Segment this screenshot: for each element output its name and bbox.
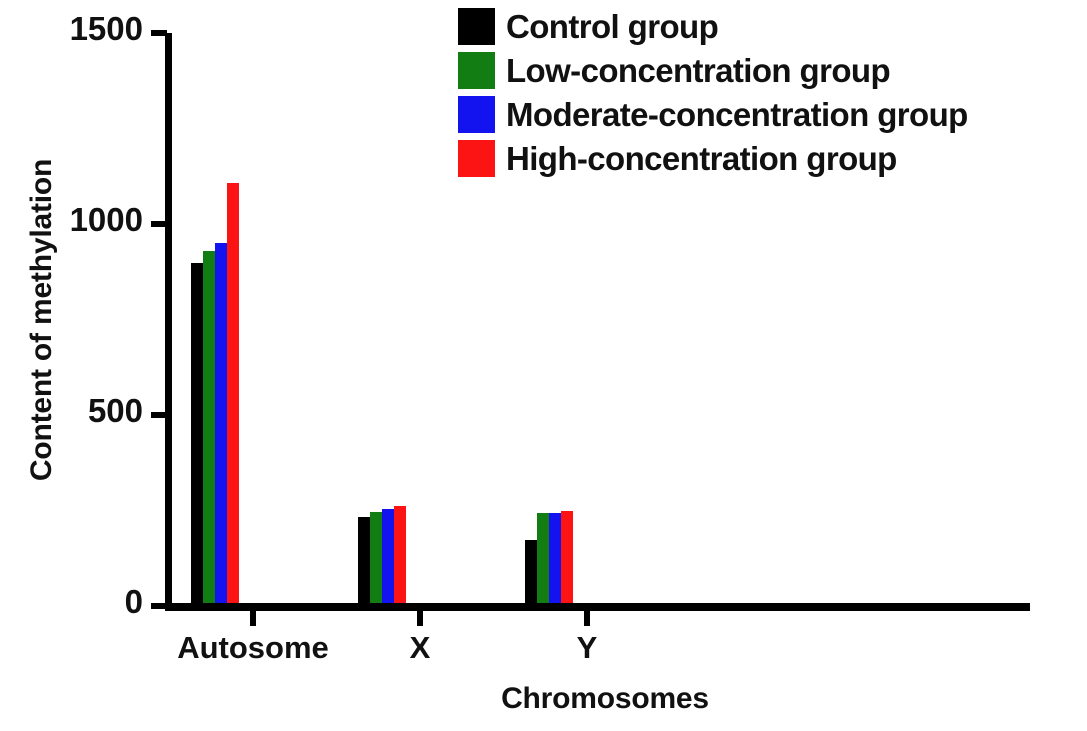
y-tick-1500: 1500	[151, 30, 167, 36]
bar-y-high-concentration-group	[561, 511, 573, 603]
y-tick-1000: 1000	[151, 221, 167, 227]
x-tick-y	[584, 611, 590, 626]
y-axis-title: Content of methylation	[25, 25, 59, 615]
legend-label: High-concentration group	[506, 142, 897, 175]
legend-label: Control group	[506, 10, 718, 43]
legend-label: Moderate-concentration group	[506, 98, 968, 131]
bar-autosome-high-concentration-group	[227, 183, 239, 603]
bar-chart-figure: Content of methylation Chromosomes 05001…	[0, 0, 1087, 731]
x-tick-autosome	[250, 611, 256, 626]
legend-item-0: Control group	[458, 4, 1087, 48]
y-tick-0: 0	[151, 603, 167, 609]
bar-autosome-low-concentration-group	[203, 251, 215, 603]
legend-item-1: Low-concentration group	[458, 48, 1087, 92]
bar-y-low-concentration-group	[537, 513, 549, 603]
chart-legend: Control groupLow-concentration groupMode…	[458, 4, 1087, 180]
legend-swatch-icon	[458, 96, 495, 133]
legend-swatch-icon	[458, 8, 495, 45]
x-tick-x	[417, 611, 423, 626]
bar-x-control-group	[358, 517, 370, 603]
legend-swatch-icon	[458, 140, 495, 177]
x-tick-label-autosome: Autosome	[177, 630, 329, 666]
legend-swatch-icon	[458, 52, 495, 89]
bar-x-high-concentration-group	[394, 506, 406, 603]
y-tick-500: 500	[151, 412, 167, 418]
bar-y-moderate-concentration-group	[549, 513, 561, 603]
y-tick-label-0: 0	[125, 583, 143, 621]
bar-y-control-group	[525, 540, 537, 603]
legend-item-2: Moderate-concentration group	[458, 92, 1087, 136]
legend-item-3: High-concentration group	[458, 136, 1087, 180]
x-axis-title: Chromosomes	[170, 682, 1040, 716]
x-axis-line	[165, 603, 1030, 611]
x-tick-label-y: Y	[577, 630, 598, 666]
bar-autosome-control-group	[191, 263, 203, 603]
y-axis-line	[165, 33, 172, 606]
legend-label: Low-concentration group	[506, 54, 890, 87]
bar-x-low-concentration-group	[370, 512, 382, 603]
bar-x-moderate-concentration-group	[382, 509, 394, 603]
y-tick-label-1000: 1000	[70, 201, 143, 239]
y-tick-label-1500: 1500	[70, 10, 143, 48]
y-tick-label-500: 500	[88, 392, 143, 430]
bar-autosome-moderate-concentration-group	[215, 243, 227, 603]
x-tick-label-x: X	[410, 630, 431, 666]
